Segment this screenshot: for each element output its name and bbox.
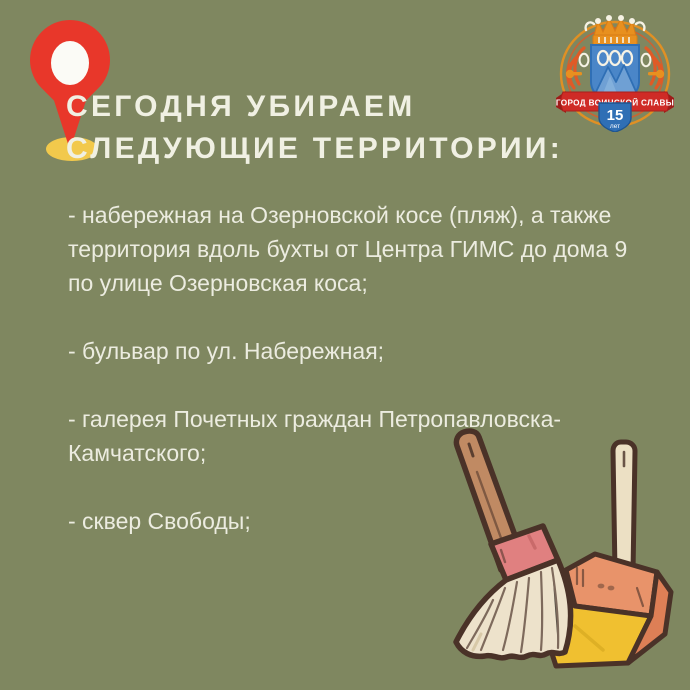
emblem-crown <box>586 15 645 45</box>
list-item: - бульвар по ул. Набережная; <box>68 334 638 368</box>
heading-line-2: СЛЕДУЮЩИЕ ТЕРРИТОРИИ: <box>66 128 666 170</box>
page-title: СЕГОДНЯ УБИРАЕМ СЛЕДУЮЩИЕ ТЕРРИТОРИИ: <box>66 86 666 170</box>
poster-canvas: ГОРОД ВОИНСКОЙ СЛАВЫ 15 лет СЕГОДНЯ УБИР… <box>0 0 690 690</box>
map-pin-hole <box>51 41 89 85</box>
heading-line-1: СЕГОДНЯ УБИРАЕМ <box>66 86 666 128</box>
list-item: - сквер Свободы; <box>68 504 638 538</box>
territory-list: - набережная на Озерновской косе (пляж),… <box>68 198 638 538</box>
list-item: - галерея Почетных граждан Петропавловск… <box>68 402 638 470</box>
list-item: - набережная на Озерновской косе (пляж),… <box>68 198 638 300</box>
